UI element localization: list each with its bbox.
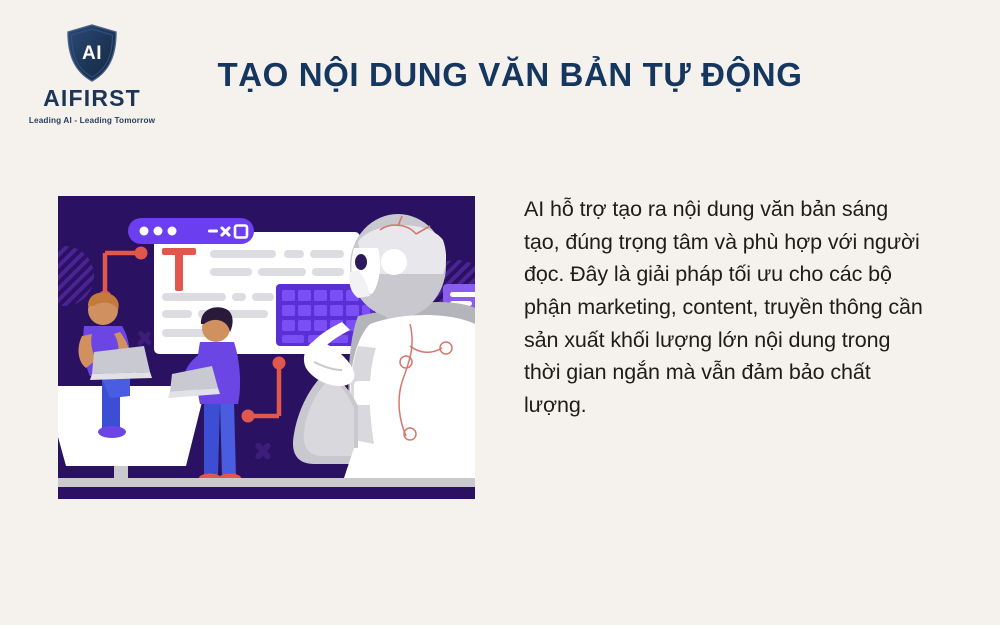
floor-strip (58, 478, 475, 487)
svg-text:AI: AI (82, 43, 102, 64)
page-title: TẠO NỘI DUNG VĂN BẢN TỰ ĐỘNG (180, 56, 840, 94)
browser-dot (140, 227, 149, 236)
minimize-icon (208, 230, 218, 233)
connector-node (273, 357, 286, 370)
body-paragraph: AI hỗ trợ tạo ra nội dung văn bản sáng t… (524, 193, 924, 422)
brand-logo: AI AIFIRST Leading AI - Leading Tomorrow (22, 24, 162, 125)
shield-icon: AI (22, 24, 162, 82)
ai-text-generation-illustration (58, 196, 475, 499)
browser-dot (168, 227, 177, 236)
robot-eye-right (381, 249, 407, 275)
browser-dot (154, 227, 163, 236)
connector-node (242, 410, 255, 423)
robot-eye-left (355, 254, 367, 270)
logo-wordmark: AIFIRST (22, 87, 162, 110)
logo-tagline: Leading AI - Leading Tomorrow (22, 117, 162, 125)
connector-node (135, 247, 148, 260)
